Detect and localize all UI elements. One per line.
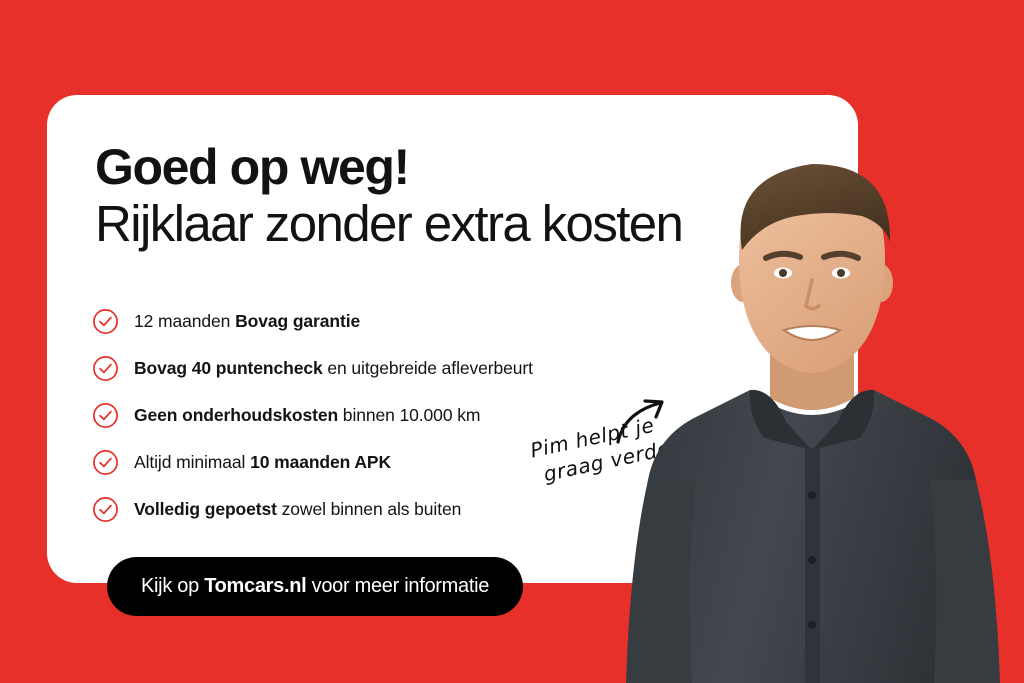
list-item: Bovag 40 puntencheck en uitgebreide afle… <box>92 345 533 392</box>
cta-prefix: Kijk op <box>141 575 204 597</box>
list-item-suffix: zowel binnen als buiten <box>277 499 461 519</box>
cta-label: Kijk op Tomcars.nl voor meer informatie <box>141 575 489 598</box>
list-item-bold: 10 maanden APK <box>250 452 391 472</box>
check-circle-icon <box>92 355 119 382</box>
list-item-bold: Volledig gepoetst <box>134 499 277 519</box>
list-item-prefix: 12 maanden <box>134 311 235 331</box>
list-item-bold: Geen onderhoudskosten <box>134 405 338 425</box>
list-item-label: Altijd minimaal 10 maanden APK <box>134 452 391 473</box>
list-item-bold: Bovag 40 puntencheck <box>134 358 323 378</box>
list-item: Altijd minimaal 10 maanden APK <box>92 439 533 486</box>
list-item: Geen onderhoudskosten binnen 10.000 km <box>92 392 533 439</box>
check-circle-icon <box>92 449 119 476</box>
list-item-label: 12 maanden Bovag garantie <box>134 311 360 332</box>
list-item-bold: Bovag garantie <box>235 311 360 331</box>
list-item-label: Volledig gepoetst zowel binnen als buite… <box>134 499 461 520</box>
cta-brand: Tomcars.nl <box>204 575 306 597</box>
list-item-label: Geen onderhoudskosten binnen 10.000 km <box>134 405 480 426</box>
promo-banner: Goed op weg! Rijklaar zonder extra koste… <box>0 0 1024 683</box>
feature-list: 12 maanden Bovag garantie Bovag 40 punte… <box>92 298 533 533</box>
list-item: 12 maanden Bovag garantie <box>92 298 533 345</box>
list-item-suffix: binnen 10.000 km <box>338 405 480 425</box>
list-item-label: Bovag 40 puntencheck en uitgebreide afle… <box>134 358 533 379</box>
list-item-prefix: Altijd minimaal <box>134 452 250 472</box>
cta-suffix: voor meer informatie <box>306 575 489 597</box>
check-circle-icon <box>92 402 119 429</box>
check-circle-icon <box>92 496 119 523</box>
list-item-suffix: en uitgebreide afleverbeurt <box>323 358 533 378</box>
list-item: Volledig gepoetst zowel binnen als buite… <box>92 486 533 533</box>
cta-button[interactable]: Kijk op Tomcars.nl voor meer informatie <box>107 557 523 616</box>
check-circle-icon <box>92 308 119 335</box>
person-photo <box>600 150 1024 683</box>
